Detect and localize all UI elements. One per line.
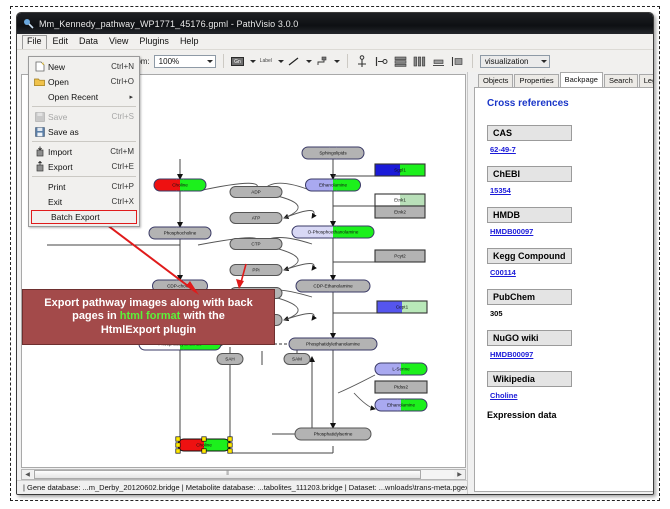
xref-group-nugo: NuGO wiki HMDB00097 — [487, 328, 654, 359]
same-width-icon[interactable] — [431, 54, 446, 68]
menu-plugins[interactable]: Plugins — [134, 35, 174, 49]
pathway-node-sah[interactable]: SAH — [217, 354, 243, 365]
pathway-node-label: L-Serine — [392, 367, 410, 372]
menu-item-import[interactable]: Import Ctrl+M — [29, 144, 139, 159]
pathway-node-adp[interactable]: ADP — [230, 187, 282, 198]
xref-head-chebi: ChEBI — [487, 166, 572, 182]
pathway-node-phosphatidylethanolamine[interactable]: Phosphatidylethanolamine — [289, 338, 377, 350]
submenu-arrow-icon: ▸ — [129, 93, 139, 101]
menu-item-print[interactable]: Print Ctrl+P — [29, 179, 139, 194]
pathway-node-choline-top[interactable]: Choline — [154, 179, 206, 191]
pathway-node-label: CDP-Ethanolamine — [313, 284, 353, 289]
pathway-node-sphingolipids[interactable]: Sphingolipids — [302, 147, 364, 159]
menu-view[interactable]: View — [104, 35, 133, 49]
menu-item-open-recent[interactable]: Open Recent ▸ — [29, 89, 139, 104]
xref-head-wikipedia: Wikipedia — [487, 371, 572, 387]
menu-item-export[interactable]: Export Ctrl+E — [29, 159, 139, 174]
window-title: Mm_Kennedy_pathway_WP1771_45176.gpml - P… — [39, 19, 298, 29]
pathway-node-o-phosphoethanolamine[interactable]: O-Phosphoethanolamine — [292, 226, 374, 238]
label-tool-button[interactable]: Label — [260, 54, 284, 68]
window-titlebar: Mm_Kennedy_pathway_WP1771_45176.gpml - P… — [17, 13, 653, 34]
pathway-node-label: Etnk1 — [394, 198, 406, 203]
pathway-node-label: Sphingolipids — [319, 151, 347, 156]
pathway-node-label: O-Phosphoethanolamine — [308, 230, 359, 235]
zoom-combobox[interactable]: 100% — [154, 55, 216, 68]
svg-text:Gn: Gn — [234, 59, 241, 65]
pathway-node-label: Choline — [172, 183, 188, 188]
pathway-node-sam[interactable]: SAM — [284, 354, 310, 365]
pathway-node-sgpl1[interactable]: Sgpl1 — [375, 164, 425, 176]
pathway-node-label: Pcyt2 — [394, 254, 406, 259]
pathway-node-label: Phosphocholine — [164, 231, 197, 236]
xref-group-wikipedia: Wikipedia Choline — [487, 369, 654, 400]
xref-group-pubchem: PubChem 305 — [487, 287, 654, 318]
tab-objects[interactable]: Objects — [478, 74, 513, 87]
callout-line-3: HtmlExport plugin — [101, 324, 196, 338]
xref-head-nugo: NuGO wiki — [487, 330, 572, 346]
file-menu-dropdown: New Ctrl+N Open Ctrl+O Open Recent ▸ — [28, 56, 140, 227]
backpage-panel: Cross references CAS 62-49-7 ChEBI 15354… — [474, 87, 654, 492]
visualization-combobox[interactable]: visualization — [480, 55, 550, 68]
menu-item-new[interactable]: New Ctrl+N — [29, 59, 139, 74]
pathway-node-label: SAM — [292, 357, 302, 362]
pathway-node-ctp[interactable]: CTP — [230, 239, 282, 250]
pathvisio-application-window: Mm_Kennedy_pathway_WP1771_45176.gpml - P… — [16, 12, 654, 495]
label-icon: Label — [260, 54, 272, 68]
pathway-node-label: PPi — [252, 268, 259, 273]
right-sidebar: Objects Properties Backpage Search Legen… — [467, 72, 654, 494]
pathvisio-app-icon — [23, 18, 34, 29]
scroll-right-arrow[interactable]: ▶ — [454, 470, 465, 479]
menubar: File Edit Data View Plugins Help — [17, 34, 653, 50]
gene-product-icon: Gn — [231, 54, 244, 68]
pathway-node-etnk1[interactable]: Etnk1 — [375, 194, 425, 206]
callout-highlight: html format — [120, 310, 181, 322]
status-bar: | Gene database: ...m_Derby_20120602.bri… — [17, 480, 467, 494]
expression-data-heading: Expression data — [487, 410, 654, 420]
tab-search[interactable]: Search — [604, 74, 638, 87]
horizontal-scrollbar[interactable]: ◀ ⫴ ▶ — [21, 469, 466, 480]
pathway-node-phosphocholine[interactable]: Phosphocholine — [149, 227, 211, 239]
scroll-track[interactable]: ⫴ — [33, 470, 454, 479]
pathway-node-ptdss2[interactable]: Ptdss2 — [375, 381, 427, 393]
pathway-node-label: ADP — [251, 190, 260, 195]
xref-group-kegg: Kegg Compound C00114 — [487, 246, 654, 277]
chevron-down-icon — [334, 60, 340, 63]
toolbar-separator — [472, 54, 473, 68]
pathway-node-label: Ptdss2 — [394, 385, 408, 390]
annotation-callout: Export pathway images along with back pa… — [22, 289, 275, 345]
menu-help[interactable]: Help — [175, 35, 204, 49]
datanode-tool-button[interactable]: Gn — [231, 54, 256, 68]
align-center-icon[interactable] — [355, 54, 370, 68]
line-icon — [288, 54, 300, 68]
chevron-down-icon — [250, 60, 256, 63]
scroll-left-arrow[interactable]: ◀ — [22, 470, 33, 479]
tab-properties[interactable]: Properties — [514, 74, 558, 87]
callout-line-1: Export pathway images along with back — [44, 297, 252, 311]
pathway-node-label: Choline — [196, 443, 212, 448]
pathway-node-label: CDP-choline — [167, 284, 193, 289]
xref-value-kegg[interactable]: C00114 — [490, 268, 654, 277]
pathway-node-label: Phosphatidylethanolamine — [306, 342, 360, 347]
xref-head-kegg: Kegg Compound — [487, 248, 572, 264]
interaction-icon — [316, 54, 328, 68]
pathway-node-choline-selected[interactable]: Choline — [176, 437, 232, 453]
chevron-down-icon — [306, 60, 312, 63]
menu-item-open[interactable]: Open Ctrl+O — [29, 74, 139, 89]
menu-item-save: Save Ctrl+S — [29, 109, 139, 124]
open-folder-icon — [31, 77, 48, 87]
save-as-icon — [31, 127, 48, 137]
pathway-node-atp[interactable]: ATP — [230, 213, 282, 224]
menu-file[interactable]: File — [22, 35, 47, 49]
xref-head-hmdb: HMDB — [487, 207, 572, 223]
xref-group-chebi: ChEBI 15354 — [487, 164, 654, 195]
pathway-node-l-serine[interactable]: L-Serine — [375, 363, 427, 375]
cross-references-title: Cross references — [487, 98, 654, 109]
menu-divider — [32, 106, 136, 107]
pathway-node-ethanolamine-top[interactable]: Ethanolamine — [306, 179, 361, 191]
sidebar-tabstrip: Objects Properties Backpage Search Legen… — [468, 72, 654, 87]
pathway-node-pcyt2[interactable]: Pcyt2 — [375, 250, 425, 262]
pathway-node-label: Ethanolamine — [387, 403, 416, 408]
pathway-node-phosphatidylserine[interactable]: Phosphatidylserine — [295, 428, 371, 440]
chevron-down-icon — [278, 60, 284, 63]
pathway-node-label: Sgpl1 — [394, 168, 406, 173]
xref-head-pubchem: PubChem — [487, 289, 572, 305]
pathway-node-ppi[interactable]: PPi — [230, 265, 282, 276]
pathway-node-cdp-ethanolamine[interactable]: CDP-Ethanolamine — [296, 280, 370, 292]
menu-divider — [32, 176, 136, 177]
toolbar-separator — [347, 54, 348, 68]
menu-data[interactable]: Data — [74, 35, 103, 49]
pathway-node-etnk2[interactable]: Etnk2 — [375, 206, 425, 218]
pathway-node-label: CTP — [251, 242, 260, 247]
tab-legend[interactable]: Legend — [639, 74, 654, 87]
interaction-tool-button[interactable] — [316, 54, 340, 68]
callout-line2-post: with the — [180, 310, 225, 322]
xref-value-cas[interactable]: 62-49-7 — [490, 145, 654, 154]
xref-value-hmdb[interactable]: HMDB00097 — [490, 227, 654, 236]
xref-value-wikipedia[interactable]: Choline — [490, 391, 654, 400]
pathway-node-label: Ethanolamine — [319, 183, 348, 188]
xref-group-cas: CAS 62-49-7 — [487, 123, 654, 154]
xref-head-cas: CAS — [487, 125, 572, 141]
menu-edit[interactable]: Edit — [48, 35, 74, 49]
export-icon — [31, 161, 48, 172]
align-left-icon[interactable] — [374, 54, 389, 68]
chevron-down-icon — [207, 60, 213, 63]
same-height-icon[interactable] — [450, 54, 465, 68]
pathway-node-cept1[interactable]: Cept1 — [377, 301, 427, 313]
chevron-down-icon — [541, 60, 547, 63]
callout-line-2: pages in html format with the — [72, 310, 225, 324]
menu-item-save-as[interactable]: Save as — [29, 124, 139, 139]
pathway-node-label: Etnk2 — [394, 210, 406, 215]
new-file-icon — [31, 61, 48, 72]
menu-divider — [32, 141, 136, 142]
pathway-node-ethanolamine-bottom[interactable]: Ethanolamine — [375, 399, 427, 411]
xref-value-chebi[interactable]: 15354 — [490, 186, 654, 195]
scroll-thumb[interactable]: ⫴ — [34, 470, 421, 479]
tab-backpage[interactable]: Backpage — [560, 72, 603, 87]
menu-item-exit[interactable]: Exit Ctrl+X — [29, 194, 139, 209]
menu-item-batch-export[interactable]: Batch Export — [31, 210, 137, 224]
pathway-node-label: Cept1 — [396, 305, 409, 310]
save-icon — [31, 112, 48, 122]
xref-group-hmdb: HMDB HMDB00097 — [487, 205, 654, 236]
pathway-node-label: SAH — [225, 357, 234, 362]
distribute-horizontal-icon[interactable] — [412, 54, 427, 68]
pathway-node-label: ATP — [252, 216, 261, 221]
stack-vertical-icon[interactable] — [393, 54, 408, 68]
pathway-node-label: Phosphatidylserine — [314, 432, 353, 437]
toolbar-separator — [223, 54, 224, 68]
xref-value-nugo[interactable]: HMDB00097 — [490, 350, 654, 359]
callout-line2-pre: pages in — [72, 310, 120, 322]
line-tool-button[interactable] — [288, 54, 312, 68]
xref-value-pubchem: 305 — [490, 309, 654, 318]
import-icon — [31, 146, 48, 157]
screenshot-root: Mm_Kennedy_pathway_WP1771_45176.gpml - P… — [0, 0, 670, 509]
